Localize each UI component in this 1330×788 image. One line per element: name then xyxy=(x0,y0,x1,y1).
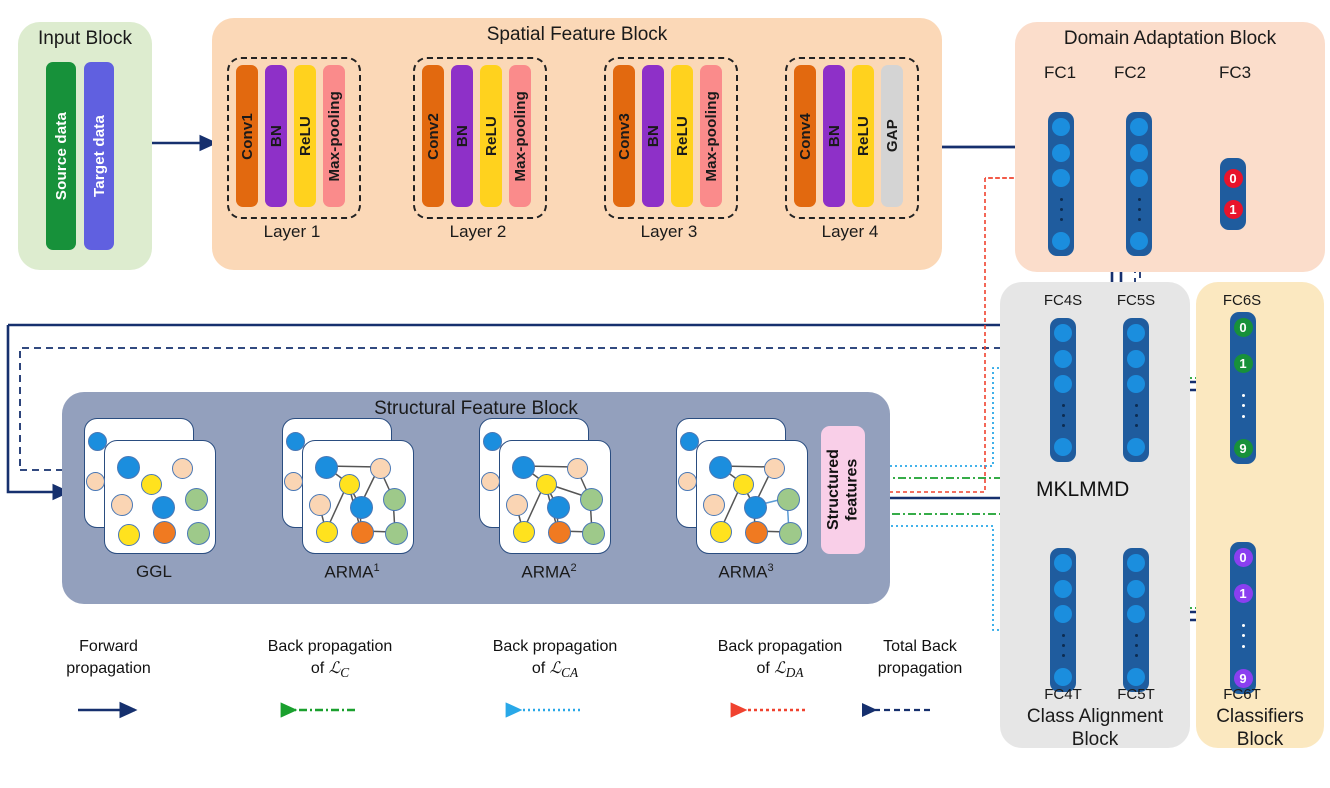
arma1-node xyxy=(351,521,374,544)
fc5s-column xyxy=(1123,318,1149,462)
ggl-node xyxy=(172,458,193,479)
legend-lda-line2: of ℒDA xyxy=(700,658,860,682)
fc6t-column: 0 1 9 xyxy=(1230,542,1256,694)
layer1-relu: ReLU xyxy=(294,65,316,207)
layer4-relu: ReLU xyxy=(852,65,874,207)
spatial-block-title: Spatial Feature Block xyxy=(212,24,942,46)
layer1-conv1-label: Conv1 xyxy=(239,113,256,160)
fc2-label: FC2 xyxy=(1100,63,1160,83)
fc4s-label: FC4S xyxy=(1033,292,1093,309)
fc6t-ellipsis xyxy=(1242,620,1245,652)
fc2-unit xyxy=(1130,169,1148,187)
arma3-node xyxy=(709,456,732,479)
input-block-title: Input Block xyxy=(18,28,152,50)
classifiers-block xyxy=(1196,282,1324,748)
fc2-ellipsis xyxy=(1138,195,1141,225)
layer1-relu-label: ReLU xyxy=(297,116,314,156)
fc5t-unit xyxy=(1127,580,1145,598)
fc3-class-1: 1 xyxy=(1224,200,1243,219)
fc5t-ellipsis xyxy=(1135,631,1138,661)
fc1-ellipsis xyxy=(1060,195,1063,225)
fc4t-label: FC4T xyxy=(1033,686,1093,703)
layer4-relu-label: ReLU xyxy=(855,116,872,156)
fc4s-unit xyxy=(1054,350,1072,368)
fc4t-unit xyxy=(1054,554,1072,572)
fc6t-class-1: 1 xyxy=(1234,584,1253,603)
layer1-maxpool: Max-pooling xyxy=(323,65,345,207)
fc6s-label: FC6S xyxy=(1212,292,1272,309)
legend-lc-line2: of ℒC xyxy=(250,658,410,682)
arma1-node xyxy=(315,456,338,479)
arma2-node xyxy=(512,456,535,479)
ggl-node xyxy=(86,472,105,491)
arma3-node xyxy=(777,488,800,511)
fc5t-unit xyxy=(1127,554,1145,572)
legend-item-lda: Back propagation of ℒDA xyxy=(700,636,860,682)
arma1-node xyxy=(385,522,408,545)
fc4s-unit xyxy=(1054,438,1072,456)
ggl-node xyxy=(117,456,140,479)
fc4t-ellipsis xyxy=(1062,631,1065,661)
arma2-label: ARMA2 xyxy=(479,562,619,583)
ggl-card-stack xyxy=(84,418,224,558)
layer-2-label: Layer 2 xyxy=(413,222,543,242)
arma2-node xyxy=(567,458,588,479)
fc1-unit xyxy=(1052,169,1070,187)
arma1-node xyxy=(339,474,360,495)
arma3-sup: 3 xyxy=(767,562,773,574)
fc4t-unit xyxy=(1054,580,1072,598)
legend-lda-line1: Back propagation xyxy=(700,636,860,658)
fc6s-class-1: 1 xyxy=(1234,354,1253,373)
legend-item-lca: Back propagation of ℒCA xyxy=(475,636,635,682)
layer3-relu: ReLU xyxy=(671,65,693,207)
layer-4-label: Layer 4 xyxy=(785,222,915,242)
arma1-node xyxy=(350,496,373,519)
legend-lca-line2: of ℒCA xyxy=(475,658,635,682)
legend-lca-line1: Back propagation xyxy=(475,636,635,658)
arma3-base: ARMA xyxy=(718,563,767,582)
layer3-maxpool: Max-pooling xyxy=(700,65,722,207)
layer1-bn: BN xyxy=(265,65,287,207)
arma3-node xyxy=(703,494,725,516)
fc4t-column xyxy=(1050,548,1076,692)
fc4s-unit xyxy=(1054,324,1072,342)
fc6s-ellipsis xyxy=(1242,390,1245,422)
arma3-node xyxy=(680,432,699,451)
legend-forward-line1: Forward xyxy=(46,636,171,658)
layer2-conv2-label: Conv2 xyxy=(425,113,442,160)
layer3-relu-label: ReLU xyxy=(674,116,691,156)
ggl-node xyxy=(118,524,140,546)
fc5t-column xyxy=(1123,548,1149,692)
layer2-bn: BN xyxy=(451,65,473,207)
domain-block-title: Domain Adaptation Block xyxy=(1015,28,1325,50)
fc5t-label: FC5T xyxy=(1106,686,1166,703)
arma3-node xyxy=(779,522,802,545)
fc1-unit xyxy=(1052,232,1070,250)
arma1-node xyxy=(370,458,391,479)
arma1-node xyxy=(286,432,305,451)
arma2-node xyxy=(506,494,528,516)
structural-block-title: Structural Feature Block xyxy=(62,398,890,420)
fc2-unit xyxy=(1130,144,1148,162)
fc1-column xyxy=(1048,112,1074,256)
layer3-bn: BN xyxy=(642,65,664,207)
ggl-node xyxy=(88,432,107,451)
arma3-node xyxy=(678,472,697,491)
layer4-conv4: Conv4 xyxy=(794,65,816,207)
ggl-node xyxy=(111,494,133,516)
arma2-node xyxy=(547,496,570,519)
arma2-sup: 2 xyxy=(570,562,576,574)
fc1-label: FC1 xyxy=(1030,63,1090,83)
ggl-node xyxy=(152,496,175,519)
arma3-node xyxy=(745,521,768,544)
classifiers-title-2: Block xyxy=(1196,729,1324,751)
ggl-node xyxy=(185,488,208,511)
arma3-label: ARMA3 xyxy=(676,562,816,583)
fc5s-ellipsis xyxy=(1135,401,1138,431)
layer-3-label: Layer 3 xyxy=(604,222,734,242)
layer4-conv4-label: Conv4 xyxy=(797,113,814,160)
fc4s-ellipsis xyxy=(1062,401,1065,431)
fc4s-unit xyxy=(1054,375,1072,393)
legend-total-line1: Total Back xyxy=(840,636,1000,658)
legend-item-total: Total Back propagation xyxy=(840,636,1000,679)
arma2-node xyxy=(536,474,557,495)
legend-forward-line2: propagation xyxy=(46,658,171,680)
arma2-node xyxy=(483,432,502,451)
arma2-node xyxy=(582,522,605,545)
arma1-node xyxy=(383,488,406,511)
layer4-bn-label: BN xyxy=(826,125,843,147)
arma1-node xyxy=(309,494,331,516)
ggl-node xyxy=(187,522,210,545)
arma2-node xyxy=(513,521,535,543)
layer4-gap: GAP xyxy=(881,65,903,207)
fc3-class-0: 0 xyxy=(1224,169,1243,188)
fc6s-column: 0 1 9 xyxy=(1230,312,1256,464)
legend-total-line2: propagation xyxy=(840,658,1000,680)
fc5s-unit xyxy=(1127,438,1145,456)
fc5t-unit xyxy=(1127,668,1145,686)
fc1-unit xyxy=(1052,144,1070,162)
layer4-bn: BN xyxy=(823,65,845,207)
ggl-node xyxy=(153,521,176,544)
fc2-column xyxy=(1126,112,1152,256)
legend-item-lc: Back propagation of ℒC xyxy=(250,636,410,682)
fc6t-label: FC6T xyxy=(1212,686,1272,703)
fc6s-class-9: 9 xyxy=(1234,439,1253,458)
layer3-conv3: Conv3 xyxy=(613,65,635,207)
layer2-maxpool-label: Max-pooling xyxy=(512,91,529,182)
class-alignment-title-1: Class Alignment xyxy=(1000,706,1190,728)
legend-lc-line1: Back propagation xyxy=(250,636,410,658)
layer2-maxpool: Max-pooling xyxy=(509,65,531,207)
fc5s-label: FC5S xyxy=(1106,292,1166,309)
layer1-maxpool-label: Max-pooling xyxy=(326,91,343,182)
structured-features-box: Structured features xyxy=(821,426,865,554)
arma3-node xyxy=(744,496,767,519)
layer3-bn-label: BN xyxy=(645,125,662,147)
arma1-sup: 1 xyxy=(373,562,379,574)
arma3-card-stack xyxy=(676,418,816,558)
arma1-node xyxy=(284,472,303,491)
class-alignment-title-2: Block xyxy=(1000,729,1190,751)
class-alignment-block xyxy=(1000,282,1190,748)
mklmmd-label: MKLMMD xyxy=(1036,478,1129,502)
layer2-relu-label: ReLU xyxy=(483,116,500,156)
fc2-unit xyxy=(1130,118,1148,136)
fc1-unit xyxy=(1052,118,1070,136)
target-data-label: Target data xyxy=(91,115,108,197)
arma2-card-stack xyxy=(479,418,619,558)
fc5t-unit xyxy=(1127,605,1145,623)
layer2-conv2: Conv2 xyxy=(422,65,444,207)
layer2-bn-label: BN xyxy=(454,125,471,147)
layer3-maxpool-label: Max-pooling xyxy=(703,91,720,182)
source-data-label: Source data xyxy=(53,112,70,200)
target-data-bar: Target data xyxy=(84,62,114,250)
arma2-node xyxy=(548,521,571,544)
arma3-node xyxy=(764,458,785,479)
arma1-node xyxy=(316,521,338,543)
fc6t-class-0: 0 xyxy=(1234,548,1253,567)
layer2-relu: ReLU xyxy=(480,65,502,207)
arma3-node xyxy=(733,474,754,495)
arma2-node xyxy=(481,472,500,491)
layer-1-label: Layer 1 xyxy=(227,222,357,242)
legend-item-forward: Forward propagation xyxy=(46,636,171,679)
structured-features-label: Structured features xyxy=(825,426,862,554)
fc6s-class-0: 0 xyxy=(1234,318,1253,337)
layer1-conv1: Conv1 xyxy=(236,65,258,207)
arma1-label: ARMA1 xyxy=(282,562,422,583)
ggl-label: GGL xyxy=(84,562,224,582)
fc2-unit xyxy=(1130,232,1148,250)
fc4s-column xyxy=(1050,318,1076,462)
arma2-node xyxy=(580,488,603,511)
fc3-label: FC3 xyxy=(1205,63,1265,83)
fc3-column: 0 1 xyxy=(1220,158,1246,230)
arma1-base: ARMA xyxy=(324,563,373,582)
fc5s-unit xyxy=(1127,350,1145,368)
ggl-node xyxy=(141,474,162,495)
classifiers-title-1: Classifiers xyxy=(1196,706,1324,728)
fc4t-unit xyxy=(1054,668,1072,686)
fc4t-unit xyxy=(1054,605,1072,623)
layer3-conv3-label: Conv3 xyxy=(616,113,633,160)
layer1-bn-label: BN xyxy=(268,125,285,147)
source-data-bar: Source data xyxy=(46,62,76,250)
layer4-gap-label: GAP xyxy=(884,119,901,152)
arma1-card-stack xyxy=(282,418,422,558)
fc5s-unit xyxy=(1127,324,1145,342)
arma3-node xyxy=(710,521,732,543)
fc5s-unit xyxy=(1127,375,1145,393)
arma2-base: ARMA xyxy=(521,563,570,582)
diagram-canvas: Input Block Source data Target data Spat… xyxy=(0,0,1330,788)
